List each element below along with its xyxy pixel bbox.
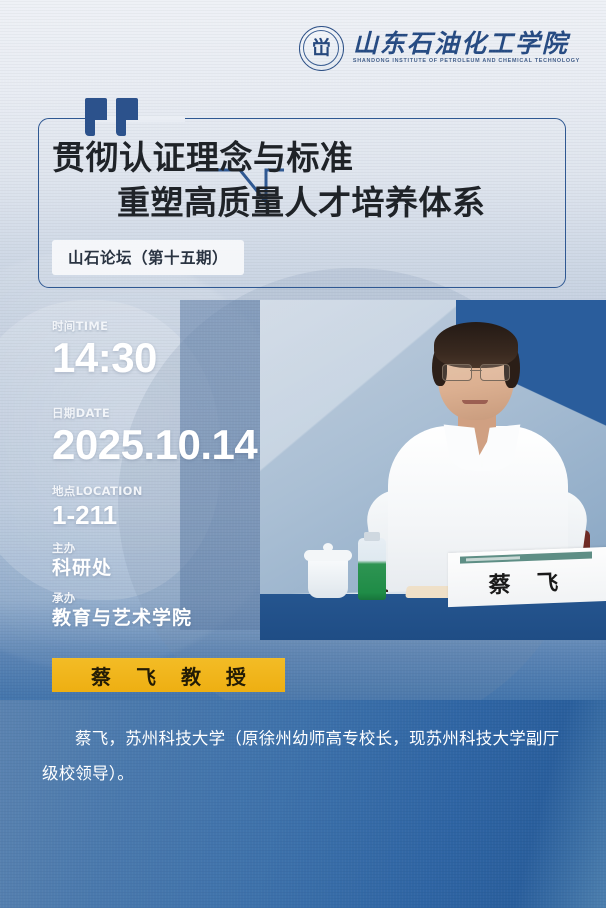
eyeglasses-icon bbox=[442, 364, 510, 379]
speaker-mouth bbox=[462, 400, 488, 404]
quotation-mark-icon bbox=[85, 98, 138, 136]
date-label: 日期DATE bbox=[52, 405, 257, 421]
location-label: 地点LOCATION bbox=[52, 483, 257, 499]
speaker-hair bbox=[434, 322, 518, 368]
water-bottle bbox=[358, 538, 386, 600]
institution-name-en: SHANDONG INSTITUTE OF PETROLEUM AND CHEM… bbox=[353, 59, 580, 64]
time-value: 14:30 bbox=[52, 337, 257, 379]
crest-glyph: 峃 bbox=[312, 39, 331, 58]
desk-nameplate: 蔡 飞 bbox=[448, 547, 606, 607]
tea-cup-knob bbox=[323, 543, 333, 552]
university-crest-icon: 峃 bbox=[299, 26, 344, 71]
poster-header: 峃 山东石油化工学院 SHANDONG INSTITUTE OF PETROLE… bbox=[0, 0, 606, 96]
eyeglasses-bridge bbox=[470, 370, 482, 371]
speaker-photo: 蔡 飞 bbox=[260, 300, 606, 640]
series-chip: 山石论坛（第十五期） bbox=[52, 240, 244, 275]
institution-name-block: 山东石油化工学院 SHANDONG INSTITUTE OF PETROLEUM… bbox=[353, 31, 580, 64]
title-line-2: 重塑高质量人才培养体系 bbox=[52, 181, 564, 226]
organizer-value: 教育与艺术学院 bbox=[52, 609, 257, 628]
water-bottle-cap bbox=[364, 532, 380, 541]
location-value: 1-211 bbox=[52, 502, 257, 528]
title-line-1: 贯彻认证理念与标准 bbox=[52, 136, 564, 181]
tea-cup bbox=[308, 556, 348, 598]
time-label: 时间TIME bbox=[52, 318, 257, 334]
event-details: 时间TIME 14:30 日期DATE 2025.10.14 地点LOCATIO… bbox=[52, 318, 257, 628]
organizer-label: 承办 bbox=[52, 590, 257, 606]
host-value: 科研处 bbox=[52, 559, 257, 578]
speaker-name-badge-label: 蔡 飞 教 授 bbox=[82, 661, 255, 690]
host-label: 主办 bbox=[52, 540, 257, 556]
nameplate-name: 蔡 飞 bbox=[448, 563, 606, 601]
speaker-name-badge: 蔡 飞 教 授 bbox=[52, 658, 285, 692]
poster-title: 贯彻认证理念与标准 重塑高质量人才培养体系 bbox=[52, 136, 564, 226]
speaker-bio: 蔡飞，苏州科技大学（原徐州幼师高专校长，现苏州科技大学副厅级校领导）。 bbox=[42, 722, 570, 792]
quote-glyph-left bbox=[85, 98, 107, 136]
series-chip-label: 山石论坛（第十五期） bbox=[68, 249, 228, 267]
quote-glyph-right bbox=[116, 98, 138, 136]
nameplate-header-strip bbox=[460, 552, 592, 564]
institution-name-cn: 山东石油化工学院 bbox=[353, 31, 580, 56]
institution-logo: 峃 山东石油化工学院 SHANDONG INSTITUTE OF PETROLE… bbox=[299, 26, 580, 71]
lecture-poster: 峃 山东石油化工学院 SHANDONG INSTITUTE OF PETROLE… bbox=[0, 0, 606, 908]
date-value: 2025.10.14 bbox=[52, 424, 257, 466]
